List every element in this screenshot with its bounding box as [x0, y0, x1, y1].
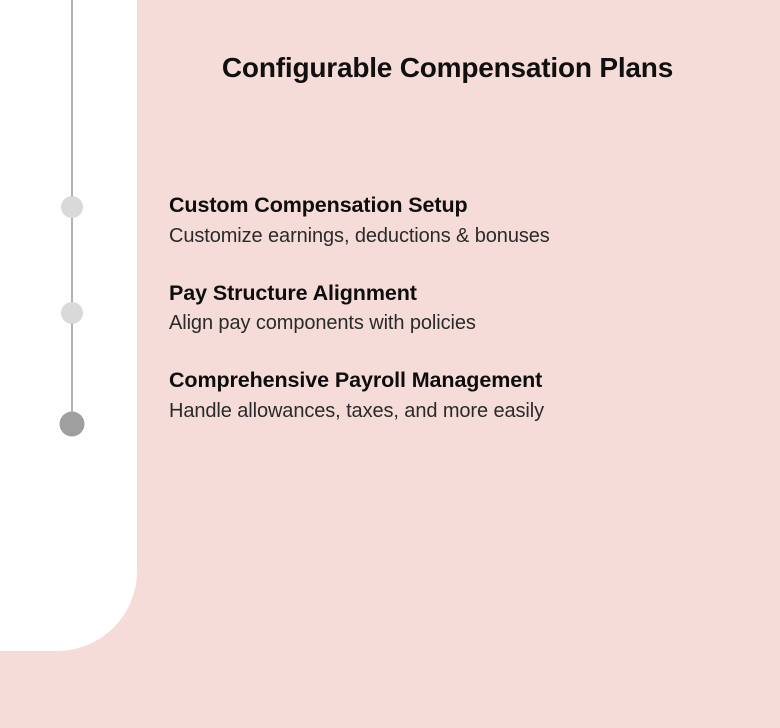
content-column: Configurable Compensation Plans Custom C… — [137, 0, 780, 728]
feature-heading: Pay Structure Alignment — [169, 280, 769, 308]
feature-heading: Comprehensive Payroll Management — [169, 367, 769, 395]
feature-description: Align pay components with policies — [169, 310, 769, 336]
feature-list: Custom Compensation Setup Customize earn… — [169, 192, 769, 424]
page-title: Configurable Compensation Plans — [137, 52, 780, 84]
list-item: Comprehensive Payroll Management Handle … — [169, 367, 769, 424]
feature-heading: Custom Compensation Setup — [169, 192, 769, 220]
feature-description: Customize earnings, deductions & bonuses — [169, 223, 769, 249]
feature-description: Handle allowances, taxes, and more easil… — [169, 398, 769, 424]
list-item: Pay Structure Alignment Align pay compon… — [169, 280, 769, 337]
white-side-panel — [0, 0, 137, 651]
slide-root: Configurable Compensation Plans Custom C… — [0, 0, 780, 728]
list-item: Custom Compensation Setup Customize earn… — [169, 192, 769, 249]
